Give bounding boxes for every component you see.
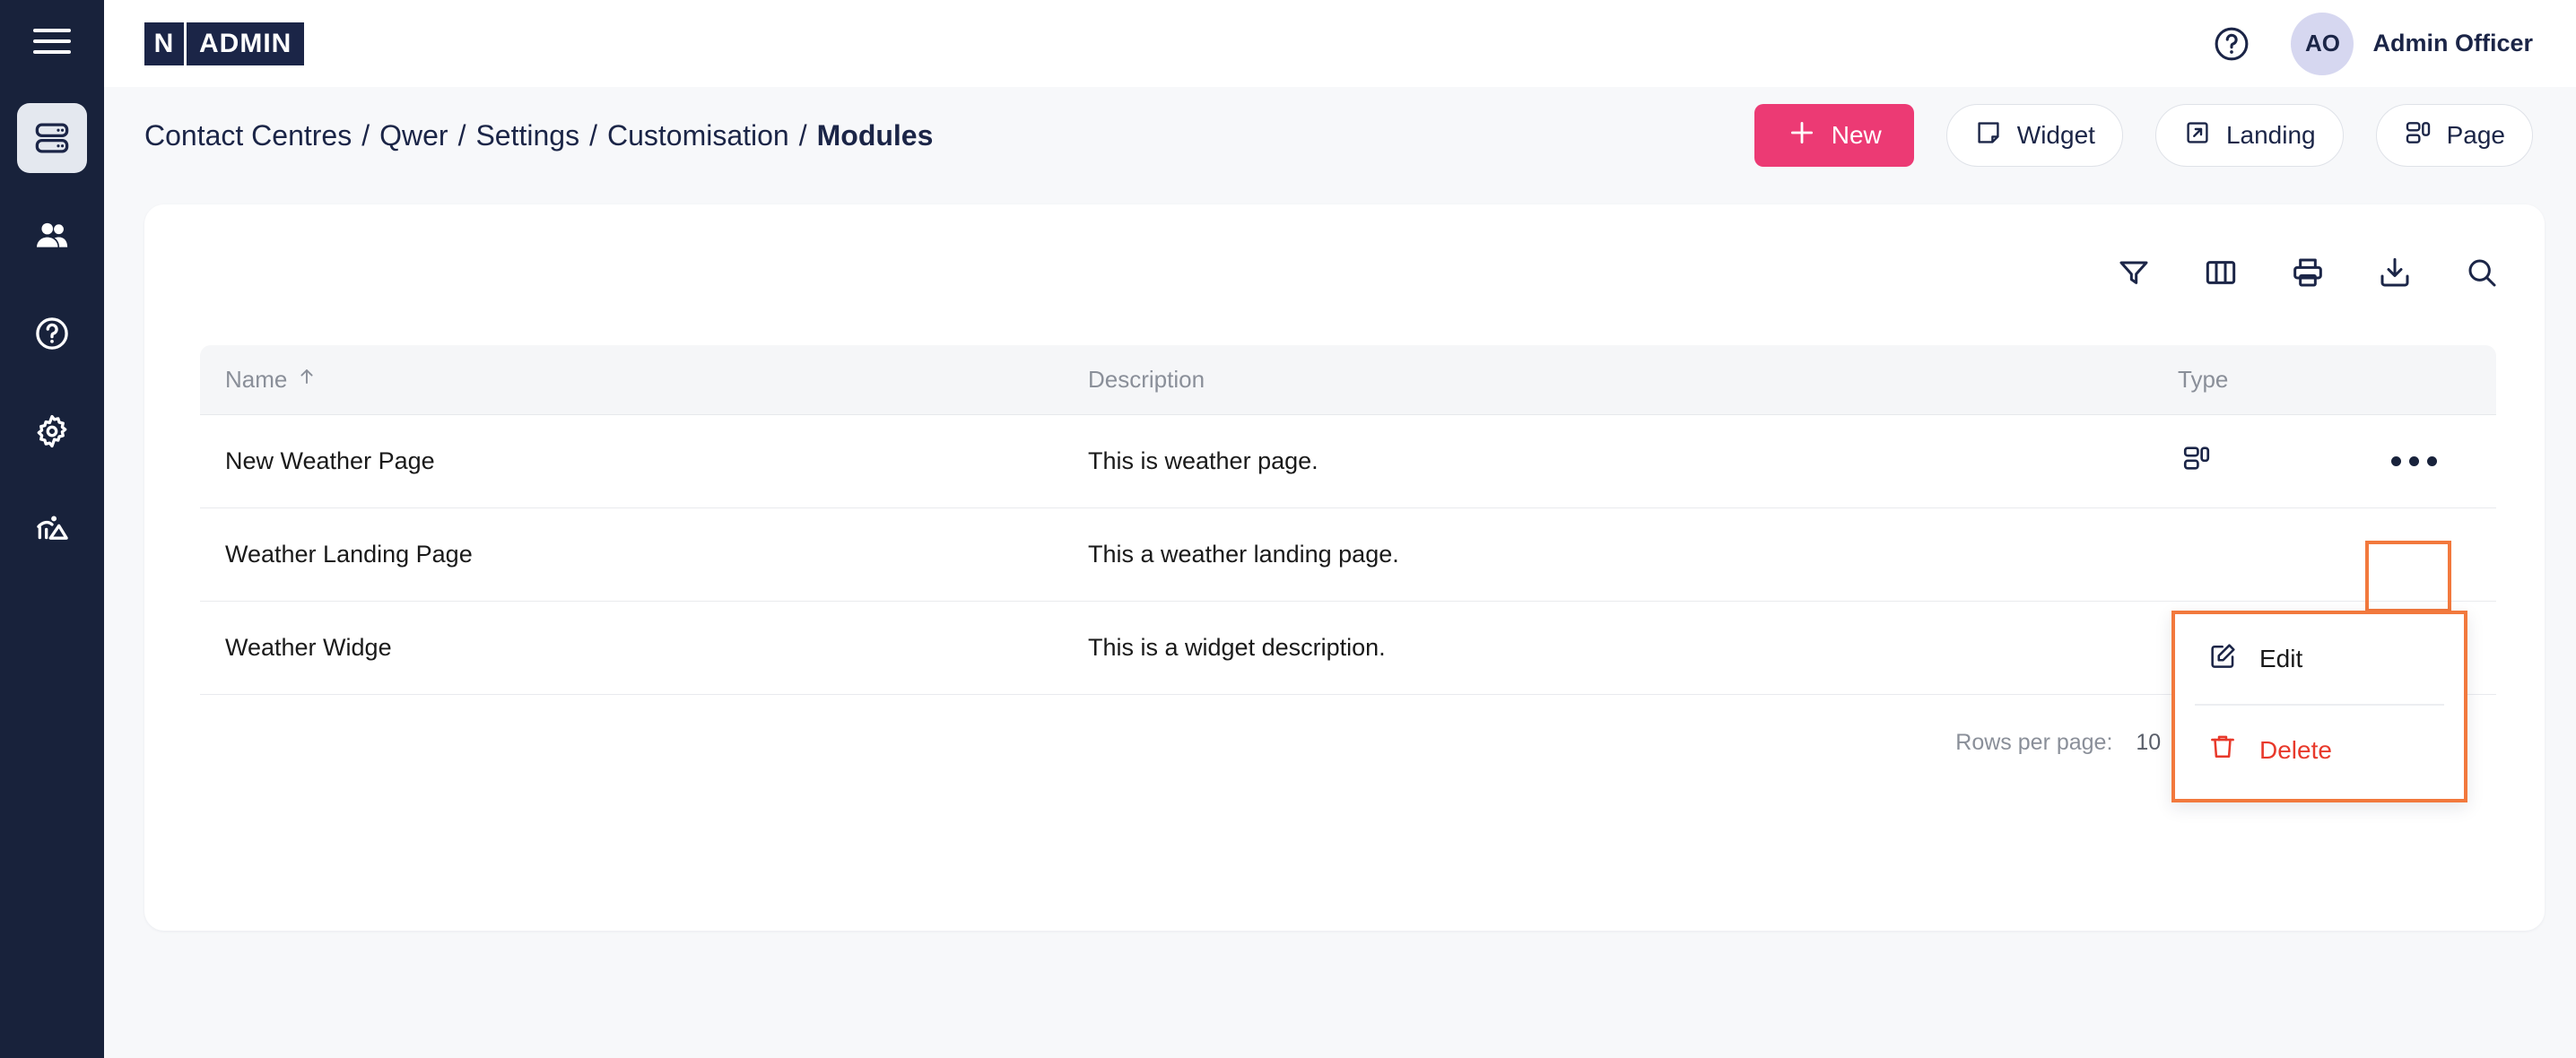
menu-item-delete[interactable]: Delete bbox=[2175, 706, 2464, 795]
dot bbox=[2391, 456, 2401, 466]
cell-type bbox=[2178, 443, 2357, 480]
table-card: Name Description Type bbox=[144, 204, 2545, 931]
new-button-label: New bbox=[1832, 121, 1882, 150]
more-horizontal-icon[interactable] bbox=[2372, 435, 2457, 489]
landing-button-label: Landing bbox=[2226, 121, 2316, 150]
widget-page-icon bbox=[1974, 118, 2003, 153]
hamburger-menu-icon bbox=[33, 28, 71, 59]
columns-icon[interactable] bbox=[2201, 253, 2241, 292]
server-stack-icon bbox=[33, 119, 71, 157]
breadcrumb-item-2[interactable]: Settings bbox=[475, 119, 579, 152]
sidebar-item-contact-centres[interactable] bbox=[17, 103, 87, 173]
table-row[interactable]: Weather Widge This is a widget descripti… bbox=[200, 602, 2496, 695]
action-bar: Contact Centres / Qwer / Settings / Cust… bbox=[104, 87, 2576, 184]
sidebar-item-maintenance[interactable] bbox=[17, 494, 87, 564]
sidebar-item-settings[interactable] bbox=[17, 396, 87, 466]
dot bbox=[2409, 456, 2419, 466]
cell-name: New Weather Page bbox=[200, 447, 1088, 475]
dot bbox=[2427, 456, 2437, 466]
layout-blocks-icon bbox=[2181, 443, 2212, 480]
sidebar-item-users[interactable] bbox=[17, 201, 87, 271]
hamburger-menu-button[interactable] bbox=[0, 0, 104, 87]
column-header-name-label: Name bbox=[225, 366, 287, 394]
arrow-up-icon bbox=[296, 366, 318, 394]
breadcrumb-item-1[interactable]: Qwer bbox=[379, 119, 448, 152]
left-rail bbox=[0, 0, 104, 1058]
action-buttons: New Widget bbox=[1754, 104, 2533, 167]
column-header-description-label: Description bbox=[1088, 366, 1205, 394]
breadcrumb-current: Modules bbox=[817, 119, 934, 152]
breadcrumb-separator: / bbox=[589, 119, 597, 152]
plus-icon bbox=[1787, 117, 1817, 154]
modules-table: Name Description Type bbox=[200, 345, 2496, 790]
cell-name: Weather Widge bbox=[200, 634, 1088, 662]
logo-text: ADMIN bbox=[187, 22, 304, 65]
pencil-square-icon bbox=[2207, 641, 2238, 678]
cell-description: This a weather landing page. bbox=[1088, 541, 2178, 568]
avatar: AO bbox=[2291, 13, 2354, 75]
content-area: Contact Centres / Qwer / Settings / Cust… bbox=[104, 87, 2576, 1058]
filter-icon[interactable] bbox=[2114, 253, 2154, 292]
breadcrumb-separator: / bbox=[799, 119, 807, 152]
table-toolbar bbox=[2114, 253, 2502, 292]
help-circle-icon[interactable] bbox=[2212, 24, 2251, 64]
users-icon bbox=[33, 217, 71, 255]
breadcrumb-item-0[interactable]: Contact Centres bbox=[144, 119, 352, 152]
cell-name: Weather Landing Page bbox=[200, 541, 1088, 568]
user-name: Admin Officer bbox=[2372, 30, 2533, 57]
cell-actions bbox=[2357, 435, 2471, 489]
row-context-menu: Edit Delete bbox=[2171, 611, 2467, 802]
external-link-icon bbox=[2183, 118, 2212, 153]
trash-icon bbox=[2207, 732, 2238, 768]
table-row[interactable]: New Weather Page This is weather page. bbox=[200, 415, 2496, 508]
breadcrumb-separator: / bbox=[361, 119, 370, 152]
breadcrumb: Contact Centres / Qwer / Settings / Cust… bbox=[144, 119, 933, 152]
menu-item-edit-label: Edit bbox=[2259, 645, 2302, 673]
cell-description: This is weather page. bbox=[1088, 447, 2178, 475]
page-button[interactable]: Page bbox=[2376, 104, 2533, 167]
table-pagination: Rows per page: 10 1-3 of 3 bbox=[200, 695, 2496, 790]
widget-button-label: Widget bbox=[2017, 121, 2095, 150]
column-header-name[interactable]: Name bbox=[200, 366, 1088, 394]
column-header-description[interactable]: Description bbox=[1088, 366, 2178, 394]
print-icon[interactable] bbox=[2288, 253, 2328, 292]
rows-per-page-label: Rows per page: bbox=[1955, 730, 2112, 756]
landing-button[interactable]: Landing bbox=[2155, 104, 2344, 167]
cell-description: This is a widget description. bbox=[1088, 634, 2178, 662]
menu-item-delete-label: Delete bbox=[2259, 736, 2332, 765]
search-icon[interactable] bbox=[2462, 253, 2502, 292]
rows-per-page-value: 10 bbox=[2136, 730, 2161, 756]
construction-worker-icon bbox=[33, 510, 71, 548]
download-icon[interactable] bbox=[2375, 253, 2415, 292]
rail-nav bbox=[17, 103, 87, 564]
page-button-label: Page bbox=[2447, 121, 2505, 150]
gear-icon bbox=[33, 412, 71, 450]
menu-item-edit[interactable]: Edit bbox=[2175, 614, 2464, 704]
widget-button[interactable]: Widget bbox=[1946, 104, 2123, 167]
sidebar-item-help[interactable] bbox=[17, 299, 87, 369]
top-bar-right: AO Admin Officer bbox=[2212, 13, 2533, 75]
column-header-type-label: Type bbox=[2178, 366, 2228, 394]
top-bar: N ADMIN AO Admin Officer bbox=[104, 0, 2576, 87]
user-menu[interactable]: AO Admin Officer bbox=[2291, 13, 2533, 75]
logo-mark: N bbox=[144, 22, 184, 65]
table-row[interactable]: Weather Landing Page This a weather land… bbox=[200, 508, 2496, 602]
new-button[interactable]: New bbox=[1754, 104, 1914, 167]
column-header-type[interactable]: Type bbox=[2178, 366, 2357, 394]
layout-blocks-icon bbox=[2404, 118, 2432, 153]
breadcrumb-item-3[interactable]: Customisation bbox=[607, 119, 789, 152]
breadcrumb-separator: / bbox=[458, 119, 466, 152]
app-root: N ADMIN AO Admin Officer Contact Centres bbox=[0, 0, 2576, 1058]
table-header-row: Name Description Type bbox=[200, 345, 2496, 415]
app-logo[interactable]: N ADMIN bbox=[144, 22, 304, 65]
help-circle-icon bbox=[33, 315, 71, 352]
